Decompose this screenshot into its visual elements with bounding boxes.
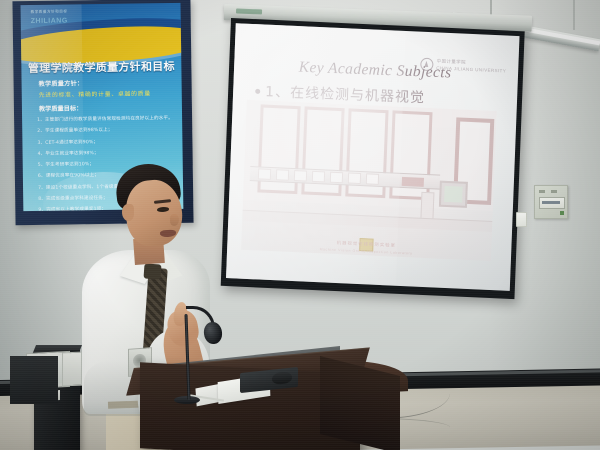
status-led-icon: [551, 190, 557, 193]
lab-bench: [242, 210, 492, 232]
presenter-eye: [157, 207, 169, 212]
projection-screen-surface: 中国计量学院 CHINA JILIANG UNIVERSITY Key Acad…: [226, 23, 520, 291]
projection-screen: 中国计量学院 CHINA JILIANG UNIVERSITY Key Acad…: [221, 18, 525, 299]
lab-monitor-screen: [444, 186, 463, 203]
slide-photo-lab: 机器视觉在线检测实验室 Machine Vision Online Inspec…: [241, 100, 497, 261]
av-control-panel[interactable]: [534, 185, 568, 219]
monitor-base: [10, 356, 58, 404]
desk-cpu-tower: [62, 352, 82, 387]
poster-section-1-label: 教学质量方针：: [39, 78, 84, 88]
poster-slogan: 先进的标准、精确的计量、卓越的质量: [39, 88, 151, 99]
rail-cell: [366, 173, 379, 185]
slide-bullet-number: 1、: [265, 84, 290, 101]
tie-knot: [143, 263, 161, 279]
lab-monitor: [439, 181, 468, 208]
display-bar: [542, 201, 560, 204]
rail-cell: [312, 171, 325, 183]
presenter-ear: [122, 204, 134, 221]
rail-accent: [402, 177, 424, 187]
light-stem: [573, 0, 575, 30]
rail-cell: [294, 170, 307, 182]
rail-cell: [276, 169, 289, 181]
rail-cell: [330, 172, 343, 184]
lecture-hall-photograph: 教学质量方针和目标 ZHILIANG 管理学院教学质量方针和目标 教学质量方针：…: [0, 0, 600, 450]
screen-brand-badge: [236, 8, 262, 14]
status-led-icon: [539, 190, 545, 193]
poster-header-small: 教学质量方针和目标: [31, 9, 68, 15]
poster-section-2-label: 教学质量目标：: [39, 103, 82, 113]
poster-title: 管理学院教学质量方针和目标: [21, 58, 181, 76]
bullet-dot-icon: [255, 89, 260, 94]
control-panel-display: [539, 197, 565, 209]
list-item: 1、主管部门进行的教学质量评估常规检测均在良好以上的水平。: [37, 113, 174, 126]
lab-computer-tower: [420, 192, 434, 221]
rail-cell: [348, 172, 361, 184]
rail-cell: [258, 168, 271, 180]
light-switch[interactable]: [516, 212, 527, 227]
power-indicator-icon: [560, 211, 564, 215]
